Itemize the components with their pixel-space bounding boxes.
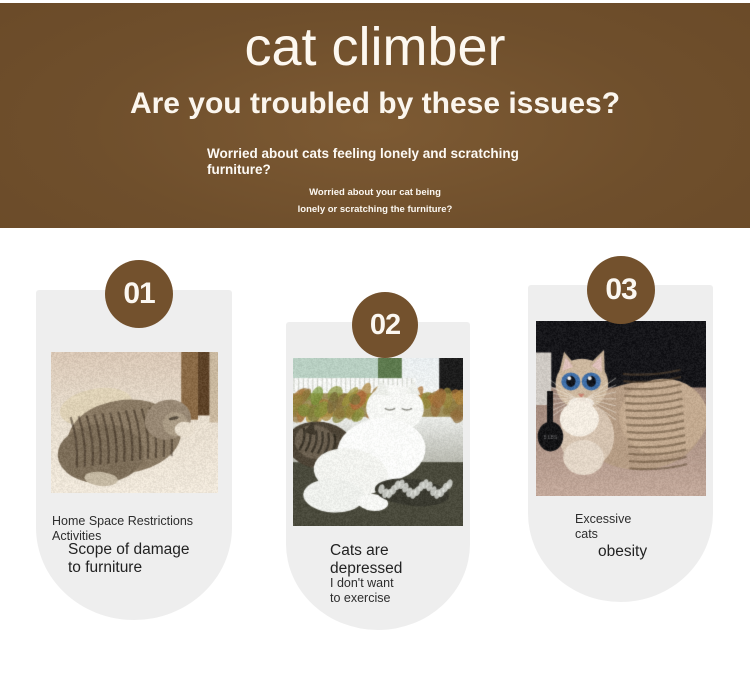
issue-caption-big-3: obesity — [598, 543, 748, 561]
hero-lead-text: Worried about cats feeling lonely and sc… — [207, 146, 557, 178]
issue-caption-small-2: I don't want to exercise — [330, 576, 480, 605]
hero-banner: cat climber Are you troubled by these is… — [0, 3, 750, 228]
badge-number-1: 01 — [105, 260, 173, 328]
promo-page: cat climber Are you troubled by these is… — [0, 0, 750, 674]
hero-small-line-1: Worried about your cat being — [0, 184, 750, 201]
issue-caption-small-3: Excessive cats — [575, 512, 725, 541]
issue-photo-3 — [536, 321, 706, 496]
hero-small-line-2: lonely or scratching the furniture? — [0, 201, 750, 218]
page-title: cat climber — [0, 17, 750, 77]
issue-caption-big-1: Scope of damage to furniture — [68, 541, 238, 577]
issue-photo-1 — [51, 352, 218, 493]
hero-subtitle: Are you troubled by these issues? — [0, 85, 750, 123]
issue-caption-big-2: Cats are depressed — [330, 542, 480, 578]
badge-number-2: 02 — [352, 292, 418, 358]
issue-caption-small-1: Home Space Restrictions Activities — [52, 514, 232, 543]
badge-number-3: 03 — [587, 256, 655, 324]
hero-small-text: Worried about your cat being lonely or s… — [0, 184, 750, 218]
issue-photo-2 — [293, 358, 463, 526]
